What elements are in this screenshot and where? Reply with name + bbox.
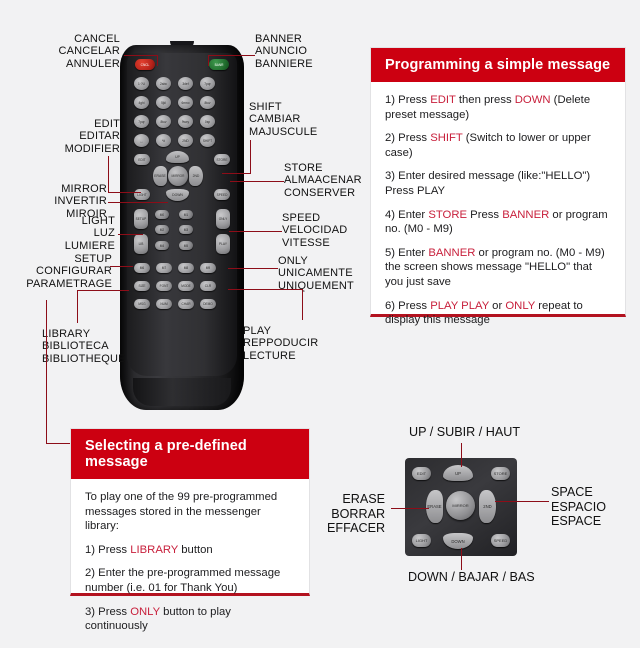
remote-key-6[interactable]: 5jkl — [156, 96, 171, 109]
remote-memory-m3[interactable]: M3 — [179, 225, 193, 234]
remote-space-button[interactable]: 2ND — [189, 166, 203, 186]
keypad-speed-button[interactable]: SPEED — [491, 534, 510, 547]
leader-shift — [222, 173, 251, 174]
highlighted-key-name: PLAY PLAY — [430, 300, 489, 312]
leader-banner-v — [208, 55, 209, 66]
leader-store — [230, 181, 284, 182]
remote-key-9[interactable]: 7pqr — [134, 115, 149, 128]
callout-light: LIGHT LUZ LUMIERE — [10, 215, 115, 252]
highlighted-key-name: SHIFT — [430, 132, 462, 144]
remote-lower-key-10[interactable]: NUM — [156, 299, 172, 309]
remote-base — [133, 378, 231, 406]
remote-down-button[interactable]: DOWN — [166, 189, 189, 201]
remote-key-3[interactable]: 3def — [178, 77, 193, 90]
keypad-edit-button[interactable]: EDIT — [412, 467, 431, 480]
keypad-down-button[interactable]: DOWN — [443, 533, 473, 549]
programming-step: 1) Press EDIT then press DOWN (Delete pr… — [385, 93, 611, 122]
leader-library-v — [77, 290, 78, 323]
keypad-callout-erase: ERASE BORRAR EFFACER — [327, 492, 385, 536]
remote-shift-button[interactable]: SHIFT — [200, 134, 215, 147]
callout-banner: BANNER ANUNCIO BANNIERE — [255, 33, 365, 70]
remote-lower-key-8[interactable]: CLR — [200, 281, 216, 291]
leader-mirror — [108, 202, 168, 203]
remote-lower-key-4[interactable]: M9 — [200, 263, 216, 273]
remote-key-8[interactable]: 8tuv — [200, 96, 215, 109]
predefined-step: 2) Enter the pre-programmed message numb… — [85, 566, 295, 595]
page-root: CNCL BANR 1·?U 2abc 3def 7pqr 4ghi 5jkl … — [0, 0, 640, 640]
highlighted-key-name: LIBRARY — [130, 544, 178, 556]
leader-cancel — [124, 55, 158, 56]
keypad-space-button[interactable]: 2ND — [479, 490, 496, 523]
panel-predefined-title: Selecting a pre-defined message — [71, 429, 309, 479]
remote-only-button[interactable]: ONLY — [216, 209, 230, 229]
remote-cancel-button[interactable]: CNCL — [135, 59, 155, 70]
panel-programming-a-simple-message: Programming a simple message 1) Press ED… — [370, 47, 626, 317]
leader-setup — [110, 266, 133, 267]
predefined-step: 1) Press LIBRARY button — [85, 543, 295, 558]
remote-speed-button[interactable]: SPEED — [214, 189, 230, 200]
keypad-callout-space: SPACE ESPACIO ESPACE — [551, 485, 606, 529]
remote-key-5[interactable]: 4ghi — [134, 96, 149, 109]
remote-key-4[interactable]: 7pqr — [200, 77, 215, 90]
remote-light-button[interactable]: LIGHT — [134, 189, 150, 200]
predefined-step: 3) Press ONLY button to play continuousl… — [85, 605, 295, 634]
remote-key-11[interactable]: 9wxy — [178, 115, 193, 128]
keypad-callout-up: UP / SUBIR / HAUT — [409, 425, 520, 440]
leader-rail-vertical — [46, 300, 47, 444]
remote-memory-m1[interactable]: M1 — [179, 210, 193, 219]
remote-key-13[interactable]: ␣ — [134, 134, 149, 147]
highlighted-key-name: STORE — [428, 209, 467, 221]
remote-up-button[interactable]: UP — [166, 151, 189, 163]
leader-edit-v — [108, 156, 109, 193]
keypad-mirror-button[interactable]: MIRROR — [446, 491, 475, 520]
leader-keypad-up — [461, 443, 462, 467]
highlighted-key-name: ONLY — [130, 606, 160, 618]
panel-predefined-body: To play one of the 99 pre-programmed mes… — [71, 479, 309, 648]
highlighted-key-name: DOWN — [515, 94, 551, 106]
programming-step: 6) Press PLAY PLAY or ONLY repeat to dis… — [385, 299, 611, 328]
remote-key-1[interactable]: 1·?U — [134, 77, 149, 90]
callout-library: LIBRARY BIBLIOTECA BIBLIOTHEQUE — [42, 328, 162, 365]
leader-edit — [108, 192, 141, 193]
callout-setup: SETUP CONFIGURAR PARAMETRAGE — [2, 253, 112, 290]
callout-edit: EDIT EDITAR MODIFIER — [10, 118, 120, 155]
predefined-step: To play one of the 99 pre-programmed mes… — [85, 490, 295, 534]
leader-banner — [208, 55, 255, 56]
leader-only — [228, 268, 278, 269]
programming-step: 4) Enter STORE Press BANNER or program n… — [385, 208, 611, 237]
remote-edit-button[interactable]: EDIT — [134, 154, 150, 165]
callout-play: PLAY REPPODUCIR LECTURE — [243, 325, 353, 362]
remote-play-button[interactable]: PLAY — [216, 234, 230, 254]
keypad-store-button[interactable]: STORE — [491, 467, 510, 480]
leader-library — [77, 290, 129, 291]
leader-play-v — [302, 289, 303, 320]
remote-mirror-button[interactable]: MIRROR — [168, 166, 188, 186]
remote-lower-key-1[interactable]: M6 — [134, 263, 150, 273]
remote-key-2[interactable]: 2abc — [156, 77, 171, 90]
remote-lower-key-11[interactable]: CHAR — [178, 299, 194, 309]
remote-banner-button[interactable]: BANR — [209, 59, 229, 70]
leader-play — [228, 289, 303, 290]
leader-speed — [229, 231, 282, 232]
keypad-callout-down: DOWN / BAJAR / BAS — [408, 570, 535, 585]
keypad-light-button[interactable]: LIGHT — [412, 534, 431, 547]
remote-key-7[interactable]: 6mno — [178, 96, 193, 109]
remote-memory-m2[interactable]: M2 — [155, 225, 169, 234]
remote-lower-key-3[interactable]: M8 — [178, 263, 194, 273]
keypad-detail-illustration: EDIT STORE LIGHT SPEED UP DOWN ERASE 2ND… — [405, 458, 517, 556]
callout-shift: SHIFT CAMBIAR MAJUSCULE — [249, 101, 361, 138]
highlighted-key-name: BANNER — [502, 209, 549, 221]
remote-lower-key-5[interactable]: SIZE — [134, 281, 150, 291]
remote-memory-m4[interactable]: M4 — [155, 241, 169, 250]
remote-memory-m5[interactable]: M5 — [179, 241, 193, 250]
programming-step: 3) Enter desired message (like:"HELLO") … — [385, 169, 611, 198]
remote-key-14[interactable]: *# — [156, 134, 171, 147]
leader-rail-to-panel — [46, 443, 70, 444]
remote-library-button[interactable]: LIB — [134, 234, 148, 254]
remote-erase-button[interactable]: ERASE — [153, 166, 167, 186]
highlighted-key-name: EDIT — [430, 94, 456, 106]
leader-keypad-erase — [391, 508, 429, 509]
callout-cancel: CANCEL CANCELAR ANNULER — [10, 33, 120, 70]
programming-step: 2) Press SHIFT (Switch to lower or upper… — [385, 131, 611, 160]
leader-cancel-v — [157, 55, 158, 66]
highlighted-key-name: BANNER — [428, 247, 475, 259]
panel-selecting-a-pre-defined-message: Selecting a pre-defined message To play … — [70, 428, 310, 596]
leader-shift-v — [250, 140, 251, 174]
keypad-up-button[interactable]: UP — [443, 465, 473, 481]
remote-key-12[interactable]: 0sp — [200, 115, 215, 128]
remote-store-button[interactable]: STORE — [214, 154, 230, 165]
remote-lower-key-7[interactable]: MODE — [178, 281, 194, 291]
remote-lower-key-9[interactable]: MSG — [134, 299, 150, 309]
panel-programming-body: 1) Press EDIT then press DOWN (Delete pr… — [371, 82, 625, 342]
highlighted-key-name: ONLY — [505, 300, 535, 312]
keypad-erase-button[interactable]: ERASE — [426, 490, 443, 523]
panel-programming-title: Programming a simple message — [371, 48, 625, 82]
leader-light — [118, 234, 143, 235]
leader-keypad-space — [495, 501, 549, 502]
remote-lower-key-2[interactable]: M7 — [156, 263, 172, 273]
remote-key-15[interactable]: 2ND — [178, 134, 193, 147]
remote-lower-key-12[interactable]: DEMO — [200, 299, 216, 309]
remote-lower-key-6[interactable]: FONT — [156, 281, 172, 291]
programming-step: 5) Enter BANNER or program no. (M0 - M9)… — [385, 246, 611, 290]
remote-key-10[interactable]: 8tuv — [156, 115, 171, 128]
leader-keypad-down — [461, 548, 462, 570]
remote-memory-m0[interactable]: M0 — [155, 210, 169, 219]
remote-setup-button[interactable]: SETUP — [134, 209, 148, 229]
